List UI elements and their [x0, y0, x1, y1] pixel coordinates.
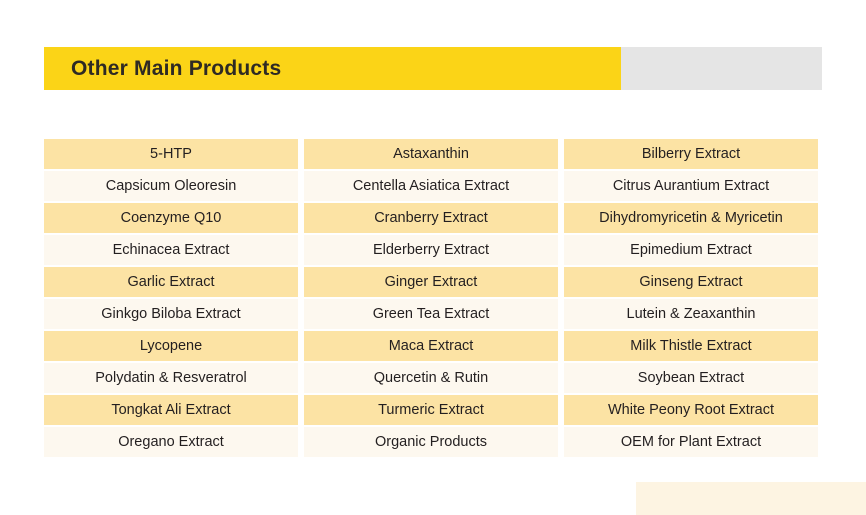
product-cell[interactable]: Green Tea Extract	[304, 299, 558, 329]
product-cell[interactable]: Milk Thistle Extract	[564, 331, 818, 361]
product-cell[interactable]: 5-HTP	[44, 139, 298, 169]
product-cell[interactable]: Lycopene	[44, 331, 298, 361]
product-cell[interactable]: Organic Products	[304, 427, 558, 457]
product-cell[interactable]: Lutein & Zeaxanthin	[564, 299, 818, 329]
product-cell[interactable]: Astaxanthin	[304, 139, 558, 169]
product-cell[interactable]: Quercetin & Rutin	[304, 363, 558, 393]
product-row: Oregano ExtractOrganic ProductsOEM for P…	[44, 427, 818, 457]
product-cell[interactable]: Soybean Extract	[564, 363, 818, 393]
product-row: Ginkgo Biloba ExtractGreen Tea ExtractLu…	[44, 299, 818, 329]
product-cell[interactable]: Maca Extract	[304, 331, 558, 361]
product-cell[interactable]: Dihydromyricetin & Myricetin	[564, 203, 818, 233]
product-cell[interactable]: Ginger Extract	[304, 267, 558, 297]
product-cell[interactable]: Bilberry Extract	[564, 139, 818, 169]
product-cell[interactable]: Garlic Extract	[44, 267, 298, 297]
product-cell[interactable]: Tongkat Ali Extract	[44, 395, 298, 425]
product-grid: 5-HTPAstaxanthinBilberry ExtractCapsicum…	[44, 139, 818, 459]
product-cell[interactable]: Elderberry Extract	[304, 235, 558, 265]
header-gray-bar	[621, 47, 822, 90]
product-cell[interactable]: Oregano Extract	[44, 427, 298, 457]
product-cell[interactable]: Epimedium Extract	[564, 235, 818, 265]
product-row: Echinacea ExtractElderberry ExtractEpime…	[44, 235, 818, 265]
product-cell[interactable]: Coenzyme Q10	[44, 203, 298, 233]
product-cell[interactable]: Polydatin & Resveratrol	[44, 363, 298, 393]
header-yellow-bar: Other Main Products	[44, 47, 621, 90]
product-row: Polydatin & ResveratrolQuercetin & Rutin…	[44, 363, 818, 393]
product-row: Garlic ExtractGinger ExtractGinseng Extr…	[44, 267, 818, 297]
product-cell[interactable]: OEM for Plant Extract	[564, 427, 818, 457]
product-row: Tongkat Ali ExtractTurmeric ExtractWhite…	[44, 395, 818, 425]
product-cell[interactable]: Capsicum Oleoresin	[44, 171, 298, 201]
product-cell[interactable]: Cranberry Extract	[304, 203, 558, 233]
product-cell[interactable]: White Peony Root Extract	[564, 395, 818, 425]
product-cell[interactable]: Ginkgo Biloba Extract	[44, 299, 298, 329]
product-cell[interactable]: Turmeric Extract	[304, 395, 558, 425]
page-title: Other Main Products	[71, 58, 281, 79]
product-cell[interactable]: Centella Asiatica Extract	[304, 171, 558, 201]
product-row: Coenzyme Q10Cranberry ExtractDihydromyri…	[44, 203, 818, 233]
product-cell[interactable]: Ginseng Extract	[564, 267, 818, 297]
header-banner: Other Main Products	[44, 47, 822, 90]
product-row: LycopeneMaca ExtractMilk Thistle Extract	[44, 331, 818, 361]
product-cell[interactable]: Echinacea Extract	[44, 235, 298, 265]
decorative-corner-block	[636, 482, 866, 515]
product-row: Capsicum OleoresinCentella Asiatica Extr…	[44, 171, 818, 201]
product-cell[interactable]: Citrus Aurantium Extract	[564, 171, 818, 201]
product-row: 5-HTPAstaxanthinBilberry Extract	[44, 139, 818, 169]
